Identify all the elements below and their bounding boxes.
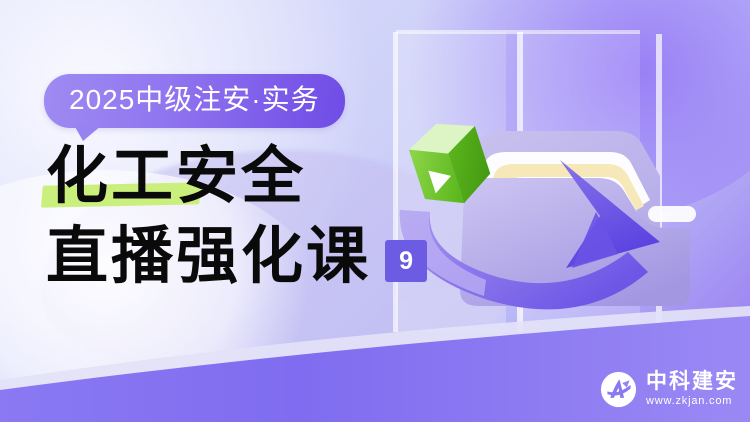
logo-website-url: www.zkjan.com xyxy=(646,394,738,408)
zkjan-logo-icon xyxy=(600,371,637,408)
badge-tail-icon xyxy=(74,125,102,141)
folder-group xyxy=(460,131,696,306)
title-line-2: 直播强化课 xyxy=(46,226,371,288)
logo-brand-name: 中科建安 xyxy=(646,371,738,393)
episode-badge: 9 xyxy=(385,240,427,282)
brand-logo: 中科建安 www.zkjan.com xyxy=(600,371,738,408)
badge-label: 2025中级注安·实务 xyxy=(69,86,320,114)
course-banner: 2025中级注安·实务 化工安全 直播强化课 9 中科建安 www.zkjan.… xyxy=(0,0,750,422)
badge-pill: 2025中级注安·实务 xyxy=(44,74,345,128)
course-category-badge: 2025中级注安·实务 xyxy=(44,74,345,128)
page-title: 化工安全 直播强化课 9 xyxy=(46,146,466,288)
logo-text-block: 中科建安 www.zkjan.com xyxy=(646,371,738,408)
title-line-1-wrap: 化工安全 xyxy=(46,146,466,208)
title-line-1: 化工安全 xyxy=(46,143,306,211)
title-line-2-wrap: 直播强化课 9 xyxy=(46,226,466,288)
